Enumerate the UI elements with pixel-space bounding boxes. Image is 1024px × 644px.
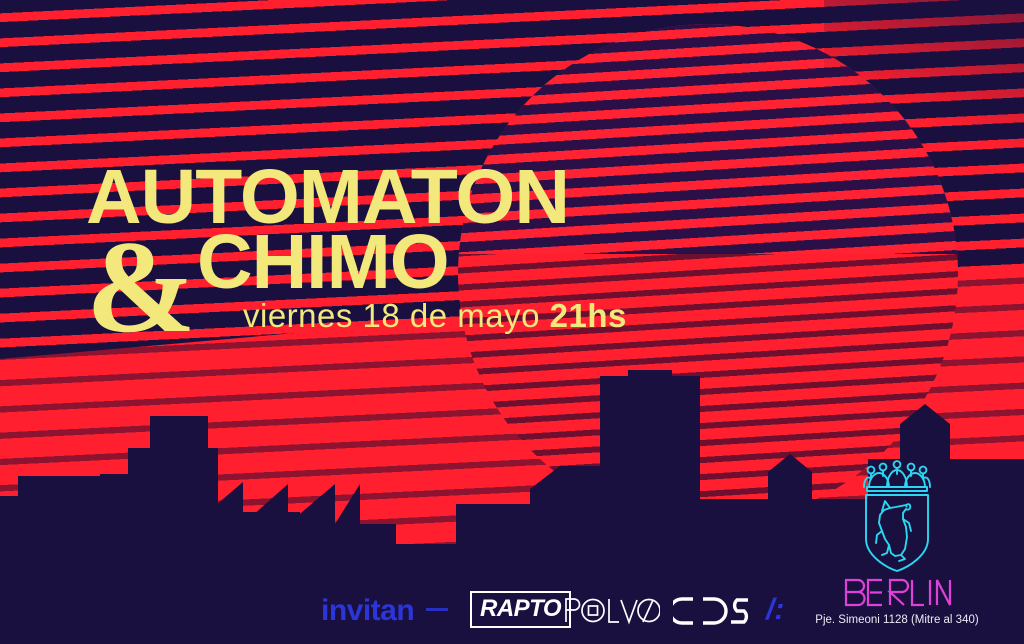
- underscore-mark: [426, 608, 448, 611]
- dds-wordmark-icon: [673, 596, 751, 626]
- dds-logo[interactable]: [673, 596, 751, 626]
- event-date-time: viernes 18 de mayo 21hs: [243, 297, 627, 335]
- slash-colon-logo[interactable]: /:: [766, 593, 784, 627]
- event-poster: AUTOMATON & CHIMO viernes 18 de mayo 21h…: [0, 0, 1024, 644]
- polvo-wordmark-icon: [563, 595, 660, 625]
- rapto-logo[interactable]: RAPTO: [470, 591, 571, 628]
- ampersand-glyph: &: [86, 246, 195, 328]
- venue-block: Pje. Simeoni 1128 (Mitre al 340): [808, 457, 986, 626]
- page-title: AUTOMATON & CHIMO: [86, 166, 569, 294]
- venue-address: Pje. Simeoni 1128 (Mitre al 340): [808, 614, 986, 626]
- headline-line-2-row: & CHIMO: [86, 231, 569, 294]
- event-time: 21hs: [550, 297, 627, 334]
- event-date: viernes 18 de mayo: [243, 297, 550, 334]
- top-right-shading: [824, 0, 1024, 150]
- berlin-wordmark: [842, 577, 952, 609]
- headline-line-2: CHIMO: [197, 231, 449, 294]
- polvo-logo[interactable]: [563, 595, 660, 625]
- invitan-label: invitan: [321, 594, 448, 628]
- berlin-bear-crest-icon: [849, 457, 945, 573]
